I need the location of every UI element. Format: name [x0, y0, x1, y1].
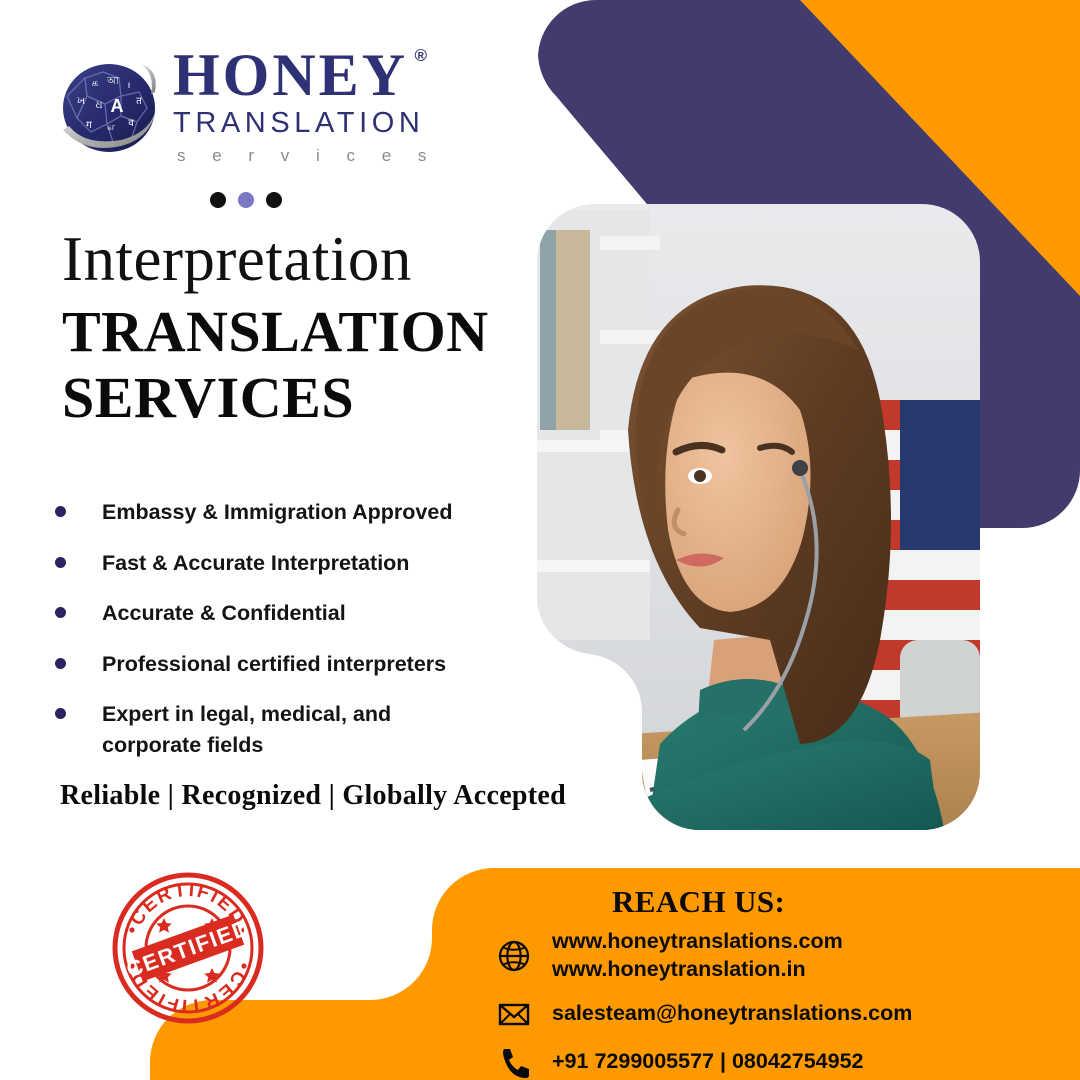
- list-item: Professional certified interpreters: [55, 649, 525, 680]
- dot-3: [266, 192, 282, 208]
- list-item-label: Professional certified interpreters: [102, 649, 446, 680]
- svg-text:எ: எ: [107, 122, 115, 133]
- svg-text:ı: ı: [128, 80, 131, 91]
- email-text: salesteam@honeytranslations.com: [552, 1000, 912, 1028]
- list-item-label: Accurate & Confidential: [102, 598, 346, 629]
- list-item-label: Embassy & Immigration Approved: [102, 497, 452, 528]
- headline-script: Interpretation: [62, 228, 522, 291]
- headline-bold-2: SERVICES: [62, 365, 522, 431]
- bullet-dot-icon: [55, 708, 66, 719]
- svg-text:ખ: ખ: [77, 96, 85, 107]
- globe-logo-icon: க আ ı ખ ଧ त ग எ व A: [55, 52, 163, 160]
- phone-text: +91 7299005577 | 08042754952: [552, 1048, 864, 1076]
- envelope-icon: [494, 997, 534, 1031]
- brand-logo[interactable]: க আ ı ખ ଧ त ग எ व A HONEY ® TRANSLATION …: [55, 46, 437, 166]
- logo-services-text: s e r v i c e s: [177, 146, 437, 166]
- headline-bold-1: TRANSLATION: [62, 299, 522, 365]
- reach-us-title: REACH US:: [612, 884, 785, 920]
- bullet-dot-icon: [55, 557, 66, 568]
- logo-wordmark: HONEY ® TRANSLATION s e r v i c e s: [173, 46, 437, 166]
- contact-list: www.honeytranslations.com www.honeytrans…: [494, 928, 1014, 1079]
- logo-translation-text: TRANSLATION: [173, 107, 437, 140]
- svg-text:A: A: [111, 96, 124, 116]
- svg-text:க: க: [92, 78, 98, 89]
- svg-text:আ: আ: [106, 76, 119, 87]
- list-item: Embassy & Immigration Approved: [55, 497, 525, 528]
- list-item-label: Expert in legal, medical, and corporate …: [102, 699, 452, 760]
- bullet-dot-icon: [55, 658, 66, 669]
- svg-text:ଧ: ଧ: [96, 100, 103, 111]
- phone-icon: [494, 1045, 534, 1079]
- bullet-dot-icon: [55, 607, 66, 618]
- svg-text:व: व: [128, 118, 134, 129]
- svg-text:ग: ग: [86, 120, 92, 131]
- list-item: Accurate & Confidential: [55, 598, 525, 629]
- svg-text:त: त: [136, 96, 142, 107]
- bullet-dot-icon: [55, 506, 66, 517]
- feature-list: Embassy & Immigration Approved Fast & Ac…: [55, 497, 525, 760]
- page-title: Interpretation TRANSLATION SERVICES: [62, 228, 522, 431]
- website-primary: www.honeytranslations.com: [552, 929, 843, 953]
- logo-honey-text: HONEY: [173, 42, 408, 108]
- globe-icon: [494, 939, 534, 973]
- phone-row[interactable]: +91 7299005577 | 08042754952: [494, 1045, 1014, 1079]
- website-row[interactable]: www.honeytranslations.com www.honeytrans…: [494, 928, 1014, 983]
- decorative-dots: [210, 192, 282, 208]
- interpreter-photo: [530, 195, 990, 840]
- certified-stamp-icon: CERTIFIED CERTIFIED CERTIFIED: [108, 868, 268, 1028]
- tagline: Reliable | Recognized | Globally Accepte…: [60, 780, 566, 812]
- dot-1: [210, 192, 226, 208]
- registered-mark-icon: ®: [415, 48, 431, 65]
- list-item: Fast & Accurate Interpretation: [55, 548, 525, 579]
- dot-2: [238, 192, 254, 208]
- list-item: Expert in legal, medical, and corporate …: [55, 699, 525, 760]
- website-text: www.honeytranslations.com www.honeytrans…: [552, 928, 843, 983]
- email-row[interactable]: salesteam@honeytranslations.com: [494, 997, 1014, 1031]
- website-secondary: www.honeytranslation.in: [552, 956, 843, 984]
- list-item-label: Fast & Accurate Interpretation: [102, 548, 409, 579]
